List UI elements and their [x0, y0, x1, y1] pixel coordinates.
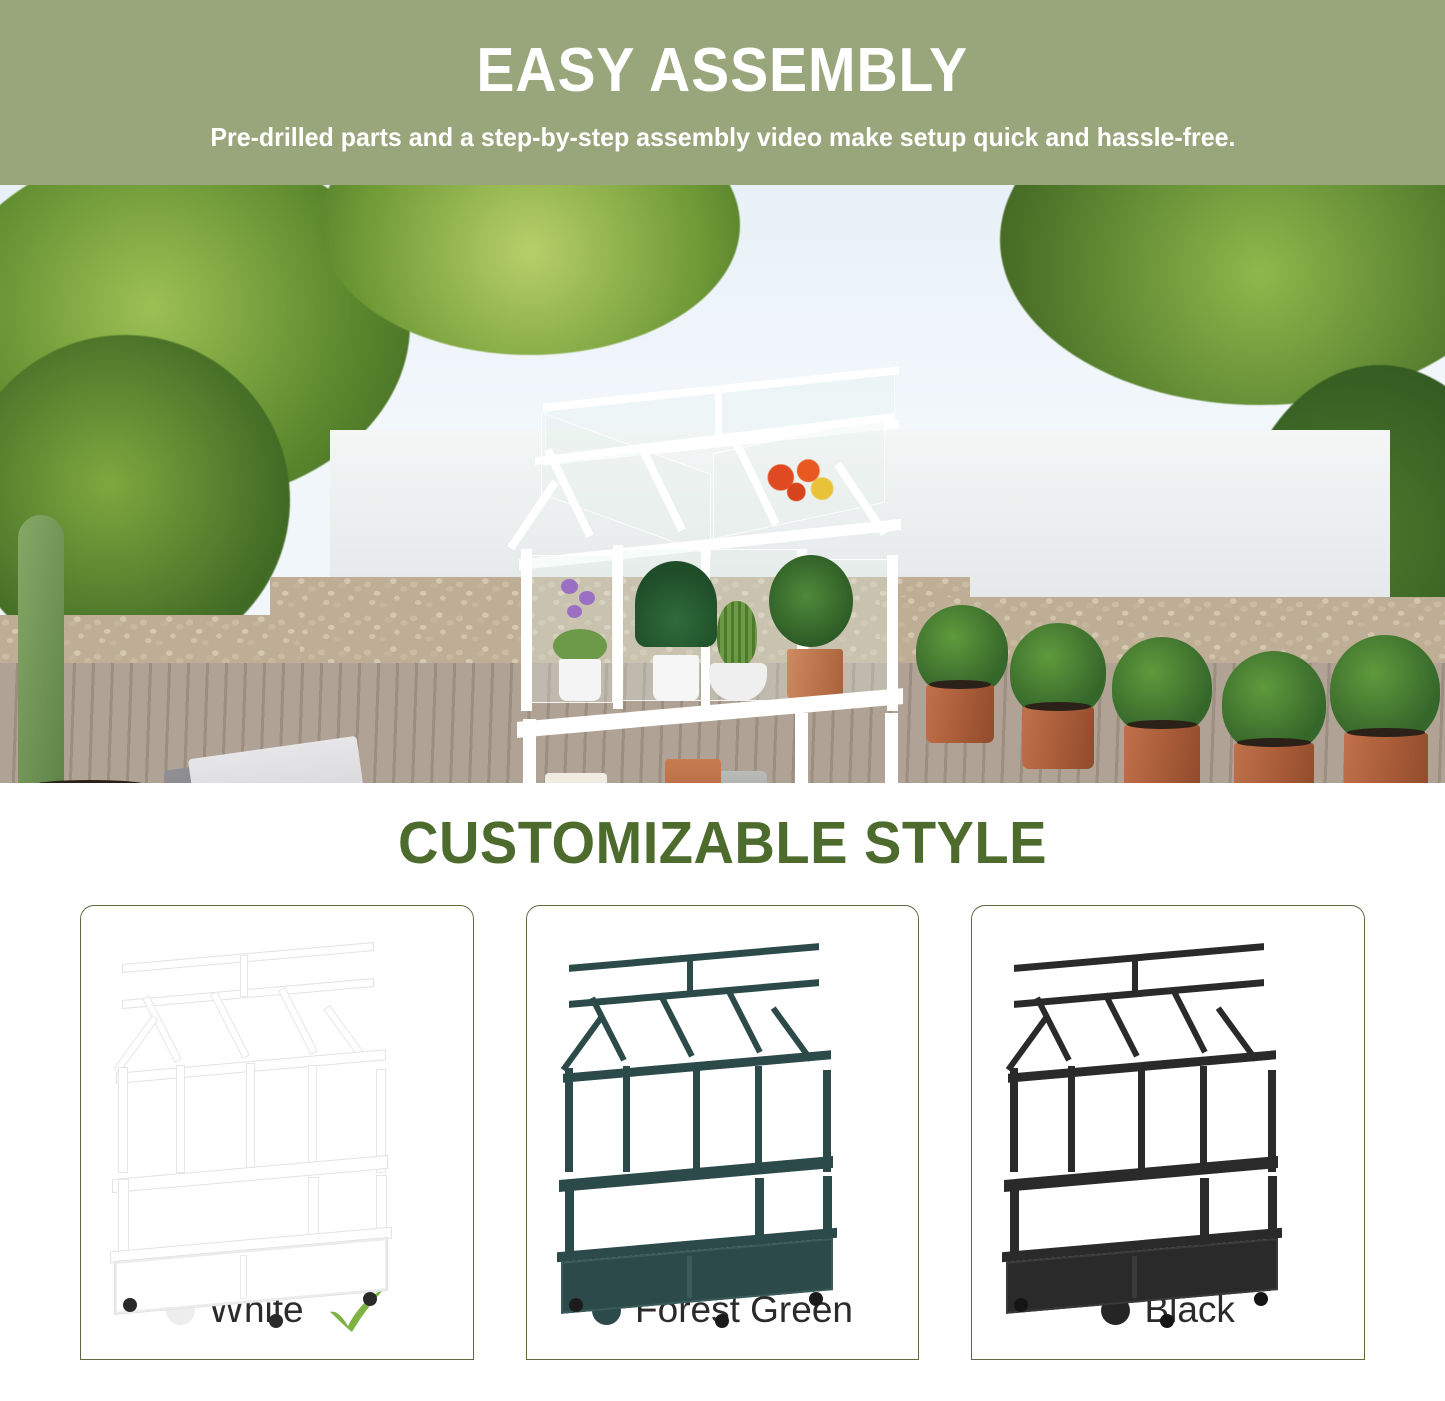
mini-roof-vent-mullion	[1132, 956, 1138, 997]
greenhouse-cart-product	[505, 383, 915, 783]
mini-caster-right	[363, 1292, 377, 1306]
color-option-card-forest-green[interactable]: Forest Green	[526, 905, 920, 1360]
tree-foliage	[769, 555, 853, 647]
mini-caster-left	[123, 1298, 137, 1312]
cabinet-post-left	[521, 549, 532, 711]
mini-gable-left	[115, 1016, 157, 1071]
mini-roof-vent	[123, 943, 373, 972]
mini-greenhouse-white	[81, 906, 473, 1267]
mini-cabinet-post-a	[1068, 1066, 1075, 1172]
mini-cabinet-post-a	[623, 1066, 630, 1172]
mini-gable-left	[1006, 1016, 1048, 1071]
color-option-card-black[interactable]: Black	[971, 905, 1365, 1360]
banner-subtitle: Pre-drilled parts and a step-by-step ass…	[210, 122, 1235, 153]
barrel-cactus	[717, 601, 757, 667]
leg-front-right	[795, 713, 808, 783]
deck-pot-3	[1124, 725, 1200, 783]
hero-lifestyle-photo	[0, 185, 1445, 783]
palm-pot	[653, 655, 699, 701]
mini-caster-right	[809, 1292, 823, 1306]
orchid-bloom-b	[579, 591, 595, 605]
mini-greenhouse-forest-green	[527, 906, 919, 1267]
mini-rafter-b	[1103, 992, 1140, 1057]
product-illustration-black	[972, 906, 1364, 1267]
mini-roof-vent-lower	[569, 979, 819, 1008]
leg-front-left	[523, 719, 536, 783]
mini-roof-vent-mullion	[241, 956, 247, 997]
leg-rear-right	[885, 713, 898, 783]
orchid-bloom-c	[567, 605, 582, 618]
mini-cabinet-door-mullion	[247, 1064, 254, 1170]
storage-terracotta-stack	[665, 759, 721, 783]
mini-rafter-c	[279, 988, 316, 1053]
mini-cabinet-post-left	[1010, 1068, 1018, 1172]
mini-roof-vent-lower	[1014, 979, 1264, 1008]
customizable-style-title: CUSTOMIZABLE STYLE	[36, 809, 1409, 877]
banner-title: EASY ASSEMBLY	[477, 38, 969, 103]
cabinet-post-mid-left	[613, 545, 623, 709]
orchid-pot	[559, 659, 601, 701]
mini-cabinet-post-b	[309, 1066, 316, 1170]
mini-greenhouse-black	[972, 906, 1364, 1267]
mini-cabinet-post-left	[565, 1068, 573, 1172]
orchid-bloom-a	[561, 579, 578, 594]
mini-roof-vent	[569, 943, 819, 972]
mini-cabinet-post-left	[119, 1068, 127, 1172]
storage-bucket-cream	[545, 773, 607, 783]
mini-caster-mid	[715, 1314, 729, 1328]
mini-gable-left	[560, 1016, 602, 1071]
mini-leg-left	[1010, 1180, 1019, 1258]
deck-pot-5	[1344, 733, 1428, 783]
mini-leg-left	[565, 1180, 574, 1258]
color-option-cards: White	[0, 905, 1445, 1360]
product-illustration-white	[81, 906, 473, 1267]
product-illustration-forest-green	[527, 906, 919, 1267]
mini-planter-divider	[241, 1256, 246, 1298]
cabinet-post-right	[887, 555, 898, 711]
color-option-card-white[interactable]: White	[80, 905, 474, 1360]
mini-cabinet-post-b	[755, 1066, 762, 1170]
red-flowers	[755, 455, 841, 511]
mini-rafter-c	[725, 988, 762, 1053]
mini-rafter-c	[1171, 988, 1208, 1053]
orchid-foliage	[553, 629, 607, 663]
mini-caster-mid	[269, 1314, 283, 1328]
mini-cabinet-post-a	[177, 1066, 184, 1172]
mini-roof-vent-lower	[123, 979, 373, 1008]
mini-cabinet-door-mullion	[1138, 1064, 1145, 1170]
mini-cabinet-post-b	[1200, 1066, 1207, 1170]
mini-cabinet-door-mullion	[693, 1064, 700, 1170]
cactus-left	[18, 515, 64, 783]
easy-assembly-banner: EASY ASSEMBLY Pre-drilled parts and a st…	[0, 0, 1445, 185]
deck-pot-2	[1022, 707, 1094, 769]
deck-pot-1	[926, 685, 994, 743]
mini-rafter-b	[657, 992, 694, 1057]
palm-fronds	[635, 561, 717, 647]
deck-pot-4	[1234, 743, 1314, 783]
customizable-style-section: CUSTOMIZABLE STYLE	[0, 783, 1445, 1360]
mini-caster-left	[569, 1298, 583, 1312]
roof-gable-left	[507, 480, 558, 551]
mini-roof-vent-mullion	[687, 956, 693, 997]
mini-leg-left	[119, 1180, 128, 1258]
mini-planter-divider	[687, 1256, 692, 1298]
mini-planter-divider	[1132, 1256, 1137, 1298]
mini-roof-vent	[1014, 943, 1264, 972]
mini-rafter-b	[211, 992, 248, 1057]
